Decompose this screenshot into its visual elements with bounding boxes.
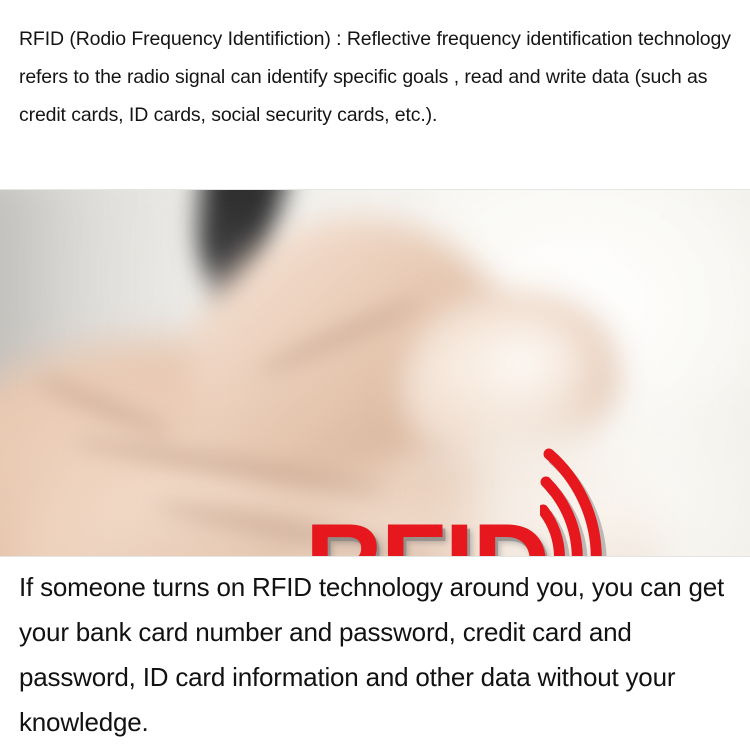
intro-paragraph: RFID (Rodio Frequency Identifiction) : R… [19, 20, 736, 134]
intro-text-block: RFID (Rodio Frequency Identifiction) : R… [0, 0, 750, 190]
photo-lower-right-highlight [470, 420, 750, 556]
warning-paragraph: If someone turns on RFID technology arou… [19, 565, 736, 745]
warning-text-block: If someone turns on RFID technology arou… [0, 556, 750, 750]
product-description-page: RFID (Rodio Frequency Identifiction) : R… [0, 0, 750, 750]
rfid-hero-image: RFID [0, 190, 750, 556]
